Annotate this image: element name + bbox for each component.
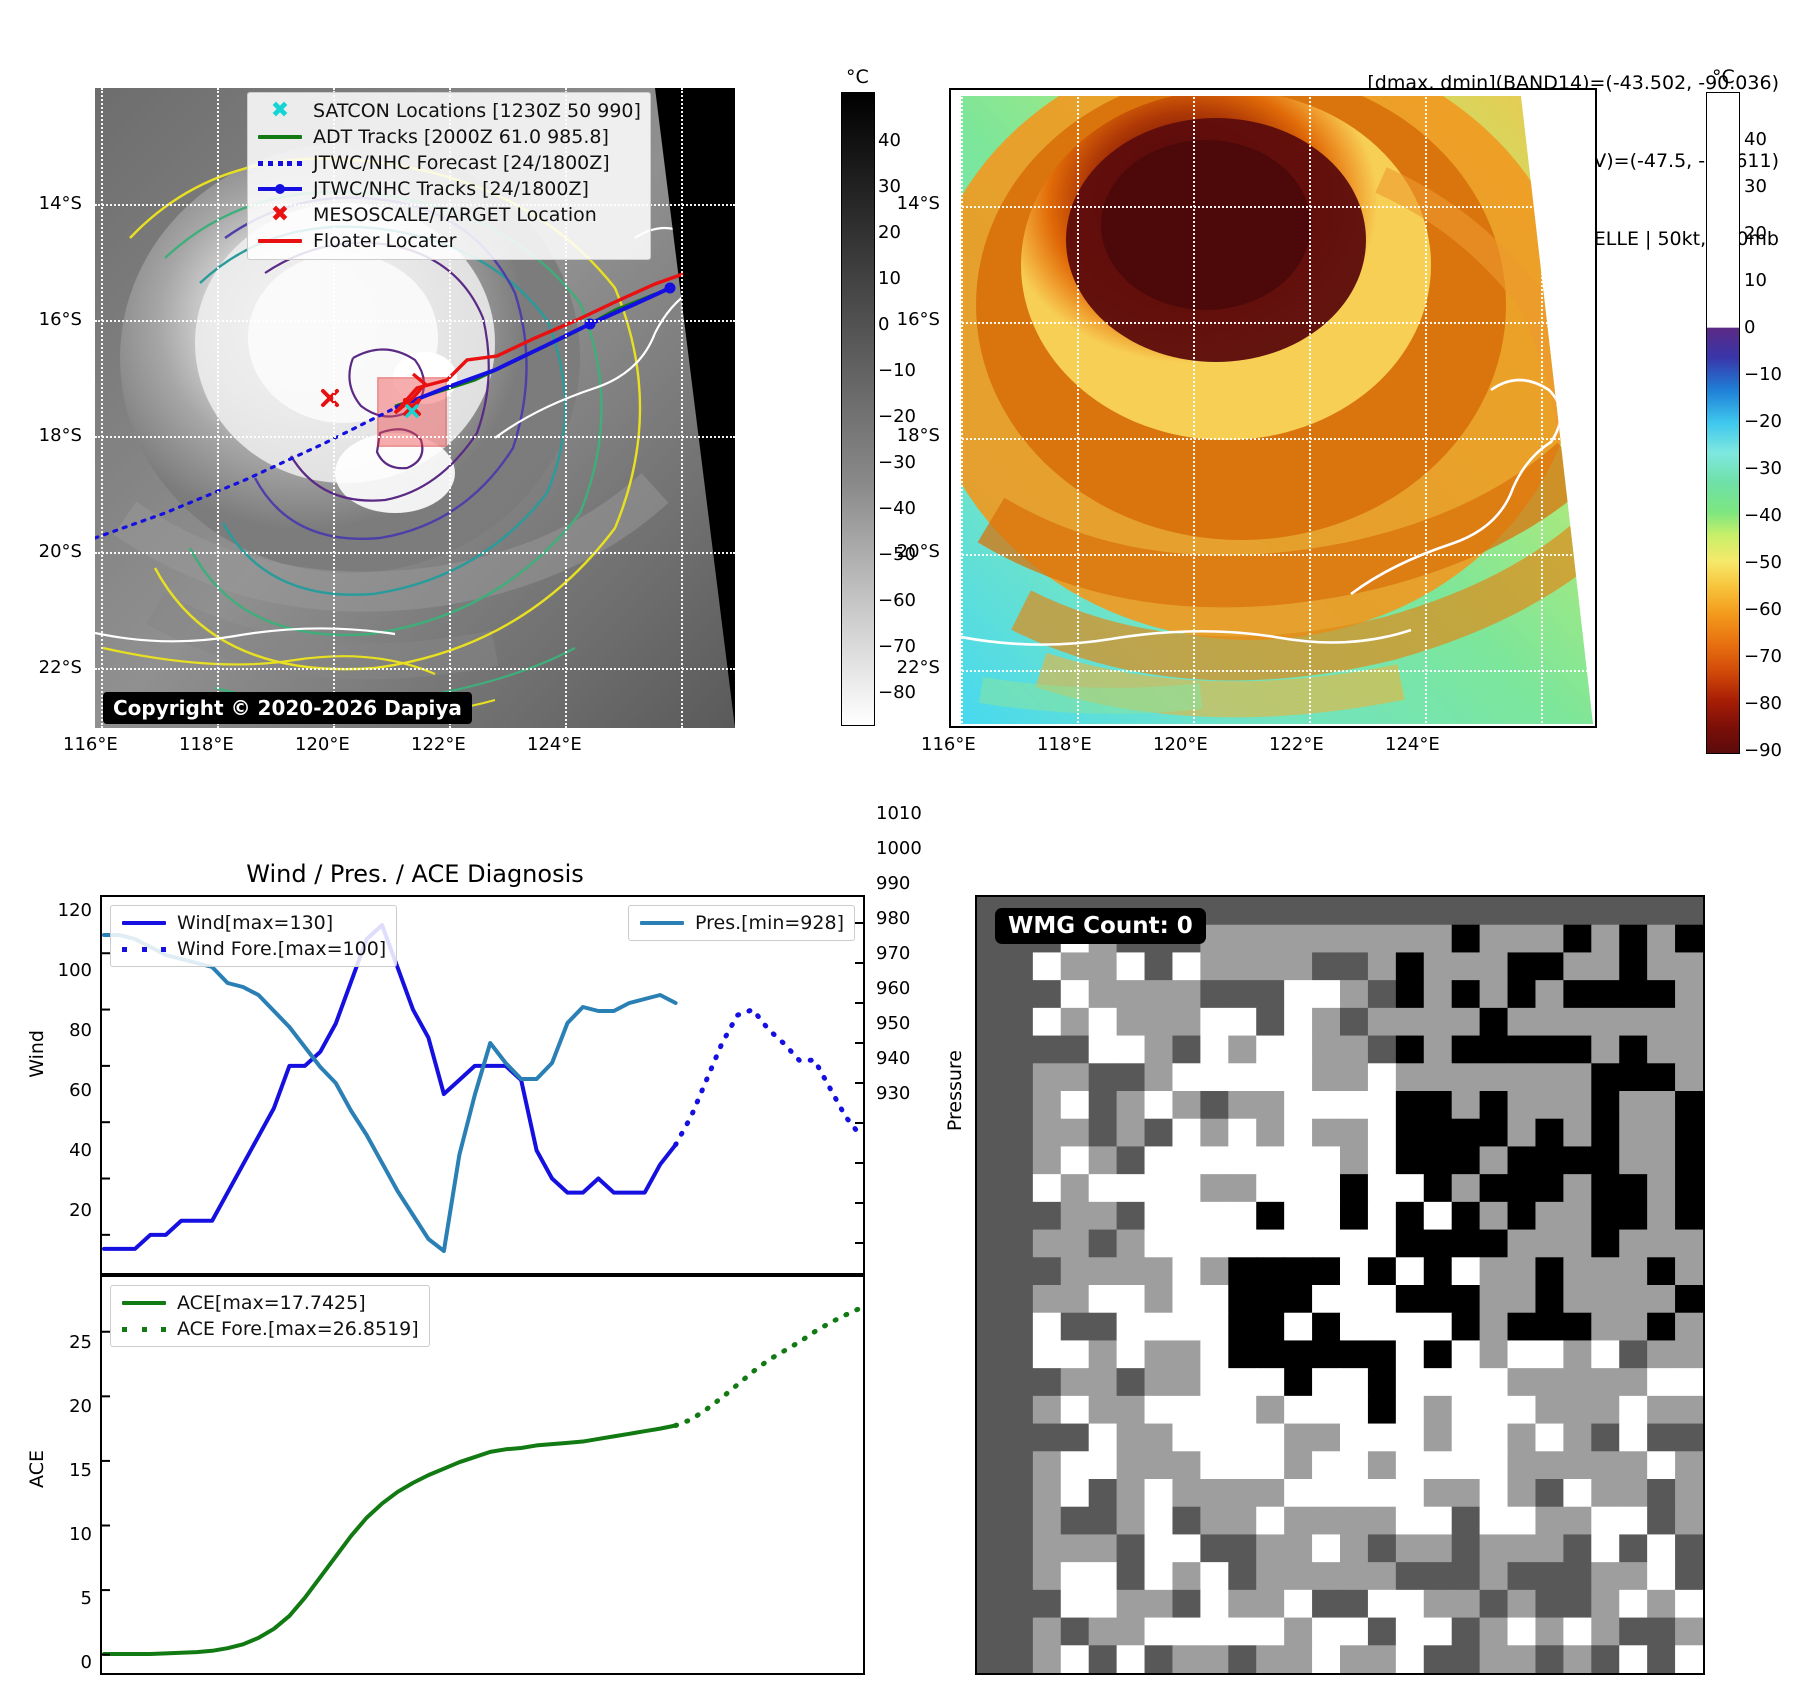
wind-tick: 80 — [69, 1020, 92, 1041]
cb-tick: 10 — [1744, 270, 1767, 291]
cb-tick: 30 — [1744, 176, 1767, 197]
lat-tick: 20°S — [897, 541, 940, 562]
pressure-yaxis-ticks: 1010 1000 990 980 970 960 950 940 930 — [876, 908, 946, 1258]
ace-chart-legend: ACE[max=17.7425] ACE Fore.[max=26.8519] — [110, 1285, 430, 1347]
cb-tick: −40 — [1744, 505, 1782, 526]
lat-tick: 18°S — [897, 425, 940, 446]
wind-tick: 60 — [69, 1080, 92, 1101]
pres-tick: 960 — [876, 978, 910, 999]
lat-tick: 14°S — [897, 193, 940, 214]
lat-tick: 18°S — [39, 425, 82, 446]
copyright-badge: Copyright © 2020-2026 Dapiya — [103, 696, 472, 720]
ir-map-legend: ✖ SATCON Locations [1230Z 50 990] ADT Tr… — [247, 92, 651, 260]
ace-chart[interactable]: ACE[max=17.7425] ACE Fore.[max=26.8519] — [100, 1275, 865, 1675]
legend-item-mesoscale-target: ✖ MESOSCALE/TARGET Location — [257, 202, 641, 228]
cb-tick: −60 — [1744, 599, 1782, 620]
ace-tick: 20 — [69, 1396, 92, 1417]
legend-item-jtwc-tracks: JTWC/NHC Tracks [24/1800Z] — [257, 176, 641, 202]
solid-line-icon — [639, 913, 685, 933]
pres-tick: 1000 — [876, 838, 922, 859]
pres-tick: 940 — [876, 1048, 910, 1069]
pres-tick: 990 — [876, 873, 910, 894]
ace-tick: 0 — [81, 1652, 92, 1673]
awv-colorbar-title: °C — [1712, 66, 1735, 88]
cb-tick: −50 — [1744, 552, 1782, 573]
solid-line-icon — [121, 1293, 167, 1313]
cb-tick: −20 — [1744, 411, 1782, 432]
wind-yaxis-ticks: 120 100 80 60 40 20 — [0, 908, 100, 1258]
lat-tick: 20°S — [39, 541, 82, 562]
x-marker-icon: ✖ — [257, 101, 303, 121]
legend-item-pressure: Pres.[min=928] — [639, 910, 844, 936]
wind-tick: 100 — [58, 960, 92, 981]
wmg-count-badge: WMG Count: 0 — [995, 913, 1206, 939]
lat-tick: 16°S — [897, 309, 940, 330]
line-with-dot-icon — [257, 179, 303, 199]
pressure-chart-legend: Pres.[min=928] — [628, 905, 855, 941]
wind-chart-legend: Wind[max=130] Wind Fore.[max=100] — [110, 905, 397, 967]
lat-tick: 22°S — [897, 657, 940, 678]
lon-tick: 122°E — [1269, 734, 1324, 755]
lon-tick: 124°E — [1385, 734, 1440, 755]
ir-lon-axis: 116°E 118°E 120°E 122°E 124°E — [95, 734, 735, 764]
lat-tick: 16°S — [39, 309, 82, 330]
cb-tick: −30 — [1744, 458, 1782, 479]
cb-tick: −90 — [1744, 740, 1782, 761]
awv-colorbar — [1706, 92, 1740, 754]
lat-tick: 14°S — [39, 193, 82, 214]
dotted-line-icon — [257, 153, 303, 173]
lon-tick: 120°E — [295, 734, 350, 755]
lon-tick: 122°E — [411, 734, 466, 755]
ir-colorbar-title: °C — [846, 66, 869, 88]
diagnosis-title: Wind / Pres. / ACE Diagnosis — [95, 860, 735, 888]
ace-tick: 5 — [81, 1588, 92, 1609]
solid-line-icon — [121, 913, 167, 933]
awv-colorbar-ticks: 40 30 20 10 0 −10 −20 −30 −40 −50 −60 −7… — [1744, 92, 1797, 752]
legend-item-satcon: ✖ SATCON Locations [1230Z 50 990] — [257, 98, 641, 124]
ace-tick: 15 — [69, 1460, 92, 1481]
cb-tick: 40 — [1744, 129, 1767, 150]
legend-item-ace: ACE[max=17.7425] — [121, 1290, 419, 1316]
cb-tick: 0 — [1744, 317, 1755, 338]
cb-tick: 20 — [1744, 223, 1767, 244]
awv-lat-axis: 14°S 16°S 18°S 20°S 22°S — [860, 88, 946, 728]
awv-lon-axis: 116°E 118°E 120°E 122°E 124°E — [949, 734, 1597, 764]
awv-map-panel[interactable] — [949, 88, 1597, 728]
dotted-line-icon — [121, 1319, 167, 1339]
pressure-axis-label: Pressure — [944, 1050, 966, 1131]
lon-tick: 118°E — [179, 734, 234, 755]
wind-pressure-chart[interactable]: Wind[max=130] Wind Fore.[max=100] Pres.[… — [100, 895, 865, 1275]
wind-tick: 40 — [69, 1140, 92, 1161]
ace-tick: 10 — [69, 1524, 92, 1545]
pres-tick: 950 — [876, 1013, 910, 1034]
lon-tick: 118°E — [1037, 734, 1092, 755]
lon-tick: 116°E — [921, 734, 976, 755]
ace-tick: 25 — [69, 1332, 92, 1353]
solid-line-icon — [257, 231, 303, 251]
cb-tick: −70 — [1744, 646, 1782, 667]
lat-tick: 22°S — [39, 657, 82, 678]
legend-item-jtwc-forecast: JTWC/NHC Forecast [24/1800Z] — [257, 150, 641, 176]
cb-tick: −10 — [1744, 364, 1782, 385]
lon-tick: 120°E — [1153, 734, 1208, 755]
dotted-line-icon — [121, 939, 167, 959]
lon-tick: 116°E — [63, 734, 118, 755]
legend-item-ace-forecast: ACE Fore.[max=26.8519] — [121, 1316, 419, 1342]
cb-tick: −80 — [1744, 693, 1782, 714]
lon-tick: 124°E — [527, 734, 582, 755]
pres-tick: 1010 — [876, 803, 922, 824]
ir-lat-axis: 14°S 16°S 18°S 20°S 22°S — [0, 88, 88, 728]
wind-tick: 120 — [58, 900, 92, 921]
pres-tick: 980 — [876, 908, 910, 929]
legend-item-wind-forecast: Wind Fore.[max=100] — [121, 936, 386, 962]
pres-tick: 970 — [876, 943, 910, 964]
legend-item-wind: Wind[max=130] — [121, 910, 386, 936]
ir-map-panel[interactable]: ✖ SATCON Locations [1230Z 50 990] ADT Tr… — [95, 88, 735, 728]
x-marker-icon: ✖ — [257, 205, 303, 225]
wmg-panel[interactable]: WMG Count: 0 — [975, 895, 1705, 1675]
solid-line-icon — [257, 127, 303, 147]
legend-item-adt: ADT Tracks [2000Z 61.0 985.8] — [257, 124, 641, 150]
wind-tick: 20 — [69, 1200, 92, 1221]
ace-yaxis-ticks: 25 20 15 10 5 0 — [0, 1285, 100, 1665]
pres-tick: 930 — [876, 1083, 910, 1104]
legend-item-floater-locater: Floater Locater — [257, 228, 641, 254]
